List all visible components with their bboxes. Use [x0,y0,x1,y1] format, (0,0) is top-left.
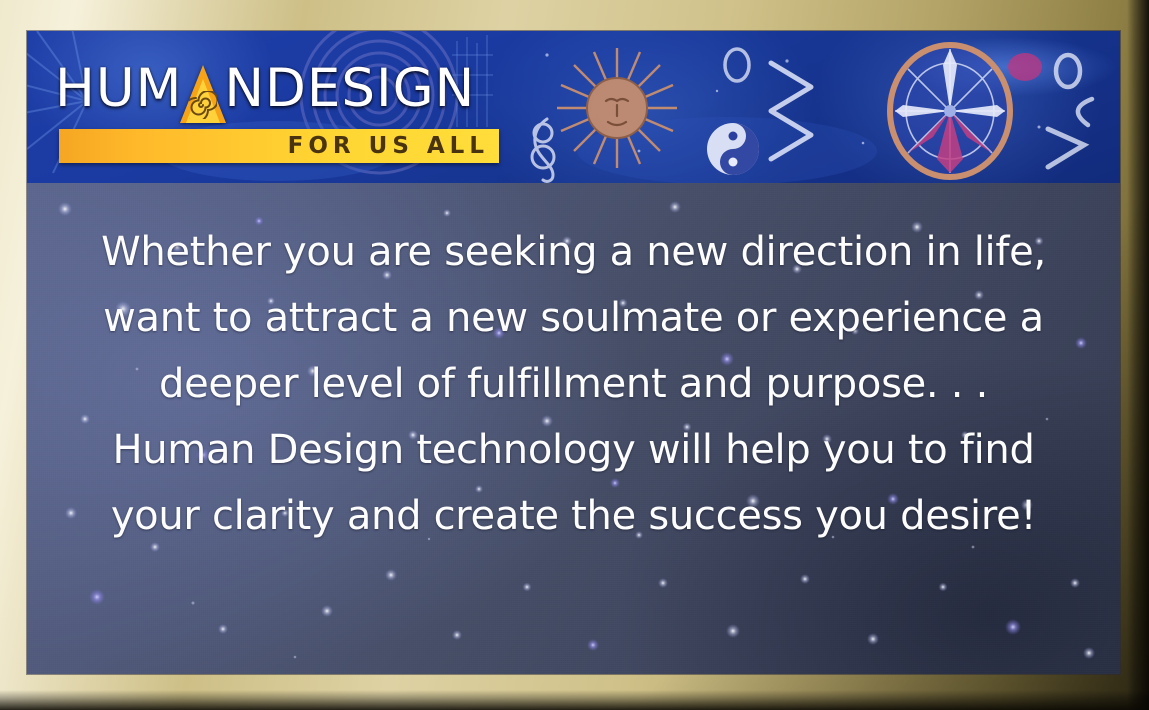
ring-circle-icon [717,45,757,85]
wordmark-part-2: NDESIGN [224,62,475,115]
compass-rose-icon [875,41,1025,181]
wave-hook-icon [1032,45,1112,175]
headline-line-1: Whether you are seeking a new direction … [27,219,1120,285]
tagline-bar: FOR US ALL [59,129,499,163]
frame-right-shadow [1127,0,1149,710]
treble-clef-icon [523,113,567,183]
headline-line-4: Human Design technology will help you to… [27,417,1120,483]
content-card: HUM NDESIGN FOR US ALL [27,31,1120,674]
headline-line-2: want to attract a new soulmate or experi… [27,285,1120,351]
headline-copy: Whether you are seeking a new direction … [27,219,1120,549]
background-grain [27,183,1120,674]
headline-line-3: deeper level of fulfillment and purpose.… [27,351,1120,417]
triangle-outer [180,65,226,123]
starfield-dots [27,183,1120,674]
starfield-message-panel: Whether you are seeking a new direction … [27,183,1120,674]
sun-face-icon [552,43,682,173]
slide-canvas: HUM NDESIGN FOR US ALL [0,0,1149,710]
headline-line-5: your clarity and create the success you … [27,483,1120,549]
spiral-icon [189,91,217,119]
human-design-banner: HUM NDESIGN FOR US ALL [27,31,1120,183]
tagline-text: FOR US ALL [288,135,499,158]
zigzag-lightning-icon [767,57,877,167]
yin-yang-icon [703,119,763,179]
triangle-inner [186,79,220,123]
frame-left-highlight [0,0,28,710]
human-design-wordmark: HUM NDESIGN [55,53,500,123]
nebula-blob-icon [1002,47,1048,87]
triangle-spiral-a-icon [180,65,226,123]
frame-bottom-shadow [0,690,1149,710]
wordmark-part-1: HUM [55,62,182,115]
